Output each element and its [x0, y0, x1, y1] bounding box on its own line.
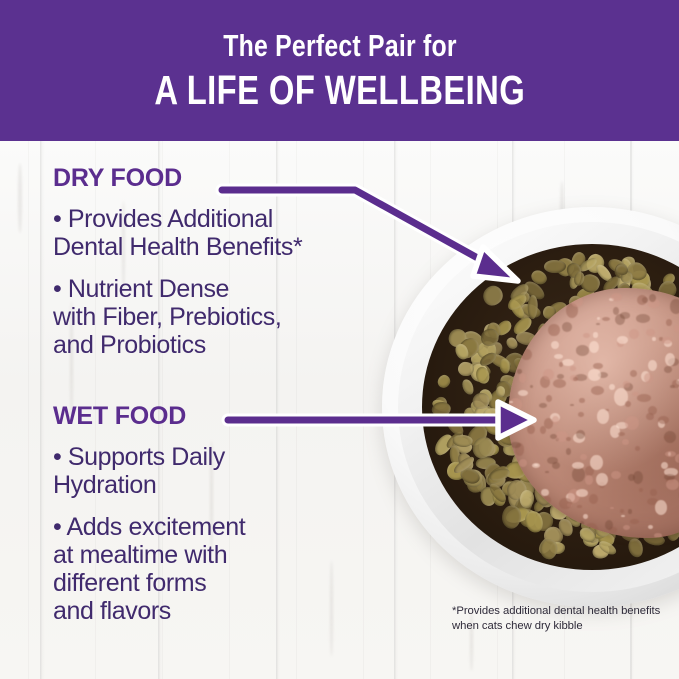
dry-food-bullet-2: • Nutrient Dense with Fiber, Prebiotics,…: [53, 275, 383, 359]
wet-food-bullet-2: • Adds excitement at mealtime with diffe…: [53, 513, 383, 625]
banner-line-1: The Perfect Pair for: [223, 30, 457, 61]
dry-food-heading: DRY FOOD: [53, 166, 383, 191]
dry-food-section: DRY FOOD • Provides Additional Dental He…: [53, 166, 383, 359]
header-banner: The Perfect Pair for A LIFE OF WELLBEING: [0, 0, 679, 141]
wet-food-section: WET FOOD • Supports Daily Hydration • Ad…: [53, 404, 383, 625]
wet-food-heading: WET FOOD: [53, 404, 383, 429]
dry-food-bullet-1: • Provides Additional Dental Health Bene…: [53, 205, 383, 261]
infographic-canvas: The Perfect Pair for A LIFE OF WELLBEING…: [0, 0, 679, 679]
footnote: *Provides additional dental health benef…: [452, 604, 679, 634]
banner-line-2: A LIFE OF WELLBEING: [154, 70, 525, 111]
wet-food-bullet-1: • Supports Daily Hydration: [53, 443, 383, 499]
cat-food-bowl-photo: [382, 207, 679, 607]
